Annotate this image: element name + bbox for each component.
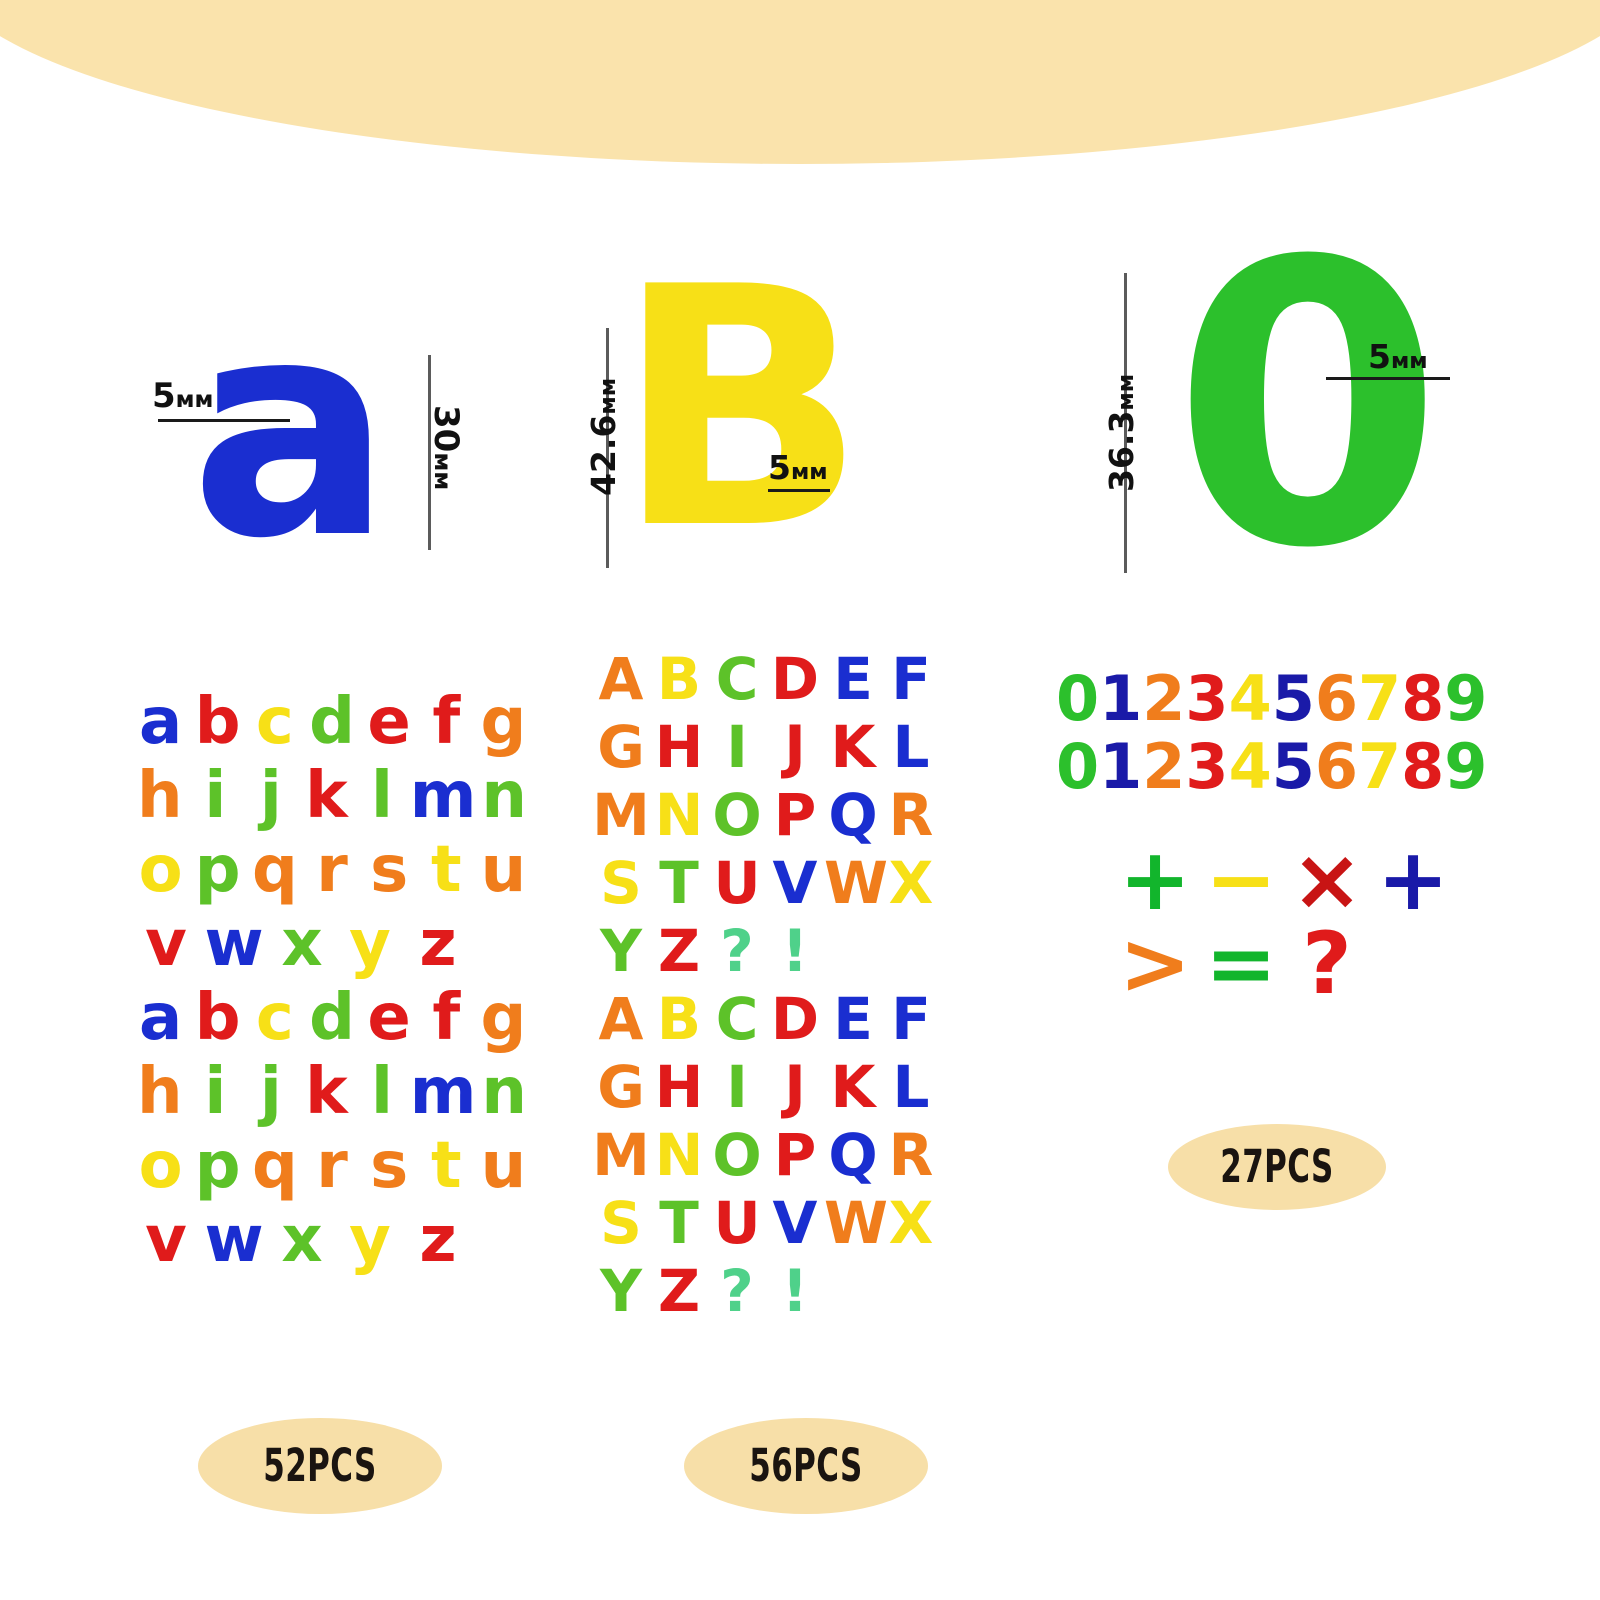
lowercase-row: opqrstu [132, 1134, 532, 1198]
uppercase-letter-tile: R [882, 1126, 940, 1184]
uppercase-letter-tile: F [882, 990, 940, 1048]
number-tile: 8 [1401, 736, 1444, 798]
lowercase-letter-tile: l [354, 1060, 410, 1124]
uppercase-letter-tile: B [650, 650, 708, 708]
badge-52pcs: 52PCS [198, 1418, 442, 1514]
uppercase-letter-tile: E [824, 650, 882, 708]
uppercase-letter-tile: D [766, 650, 824, 708]
number-tile: 5 [1272, 668, 1315, 730]
lowercase-letter-tile: n [476, 1060, 532, 1124]
lowercase-letter-tile: s [361, 838, 418, 902]
lowercase-letter-tile: u [475, 838, 532, 902]
uppercase-letter-tile: Z [650, 922, 708, 980]
lowercase-letter-tile: x [268, 1208, 336, 1272]
uppercase-row: MNOPQR [592, 1126, 952, 1184]
number-tile: 6 [1315, 736, 1358, 798]
lowercase-letter-tile: e [361, 690, 418, 754]
lowercase-letter-tile: p [189, 838, 246, 902]
spec-uppercase-b: B 42.6мм 5мм [600, 280, 920, 580]
uppercase-letter-tile: C [708, 990, 766, 1048]
uppercase-row: STUVWX [592, 854, 952, 912]
lowercase-letter-tile: a [132, 690, 189, 754]
uppercase-letter-tile: H [650, 718, 708, 776]
uppercase-letter-tile: P [766, 786, 824, 844]
lowercase-letter-tile: f [418, 986, 475, 1050]
lowercase-letter-tile: w [200, 912, 268, 976]
lowercase-row: vwxyz [132, 1208, 532, 1272]
symbols-row: +−×+ [1112, 840, 1492, 922]
lowercase-row: hijklmn [132, 1060, 532, 1124]
lowercase-letter-tile: r [303, 1134, 360, 1198]
badge-56pcs: 56PCS [684, 1418, 928, 1514]
lowercase-letter-tile: j [243, 1060, 299, 1124]
uppercase-row: YZ?! [592, 922, 952, 980]
uppercase-letter-tile: A [592, 650, 650, 708]
lowercase-letter-tile: x [268, 912, 336, 976]
uppercase-letters-sheet: ABCDEFGHIJKLMNOPQRSTUVWXYZ?!ABCDEFGHIJKL… [592, 650, 952, 1330]
lowercase-row: vwxyz [132, 912, 532, 976]
uppercase-letter-tile: ! [766, 1262, 824, 1320]
symbol-tile: + [1370, 840, 1456, 922]
uppercase-letter-tile: ? [708, 922, 766, 980]
uppercase-letter-tile: Z [650, 1262, 708, 1320]
number-tile: 0 [1056, 668, 1099, 730]
header-banner: Children's early education teaching aids [0, 0, 1600, 164]
uppercase-letter-tile: X [882, 1194, 940, 1252]
number-tile: 1 [1099, 736, 1142, 798]
symbol-tile: = [1198, 924, 1284, 1006]
number-tile: 6 [1315, 668, 1358, 730]
uppercase-letter-tile: I [708, 718, 766, 776]
number-tile: 1 [1099, 668, 1142, 730]
uppercase-letter-tile: K [824, 718, 882, 776]
uppercase-letter-tile: V [766, 854, 824, 912]
height-label-b: 42.6мм [584, 378, 623, 496]
lowercase-row: abcdefg [132, 690, 532, 754]
number-tile: 7 [1358, 668, 1401, 730]
lowercase-letter-tile: o [132, 838, 189, 902]
uppercase-letter-tile: Q [824, 786, 882, 844]
lowercase-letter-tile: f [418, 690, 475, 754]
lowercase-letter-tile: t [418, 1134, 475, 1198]
uppercase-row: GHIJKL [592, 718, 952, 776]
uppercase-letter-tile: T [650, 1194, 708, 1252]
uppercase-letter-tile: E [824, 990, 882, 1048]
lowercase-letter-tile: z [404, 912, 472, 976]
lowercase-letter-tile: t [418, 838, 475, 902]
lowercase-letter-tile: d [303, 690, 360, 754]
lowercase-letter-tile: e [361, 986, 418, 1050]
lowercase-letter-tile: v [132, 912, 200, 976]
lowercase-letter-tile: u [475, 1134, 532, 1198]
spec-lowercase-a: a 5мм 30мм [180, 300, 510, 580]
number-tile: 0 [1056, 736, 1099, 798]
uppercase-letter-tile: N [650, 786, 708, 844]
thickness-label-b: 5мм [768, 448, 828, 487]
uppercase-letter-tile: L [882, 1058, 940, 1116]
lowercase-letter-tile: h [132, 764, 188, 828]
uppercase-letter-tile: O [708, 1126, 766, 1184]
number-tile: 7 [1358, 736, 1401, 798]
uppercase-letter-tile: ? [708, 1262, 766, 1320]
lowercase-letter-tile: p [189, 1134, 246, 1198]
uppercase-letter-tile: J [766, 1058, 824, 1116]
symbols-row: >=? [1112, 924, 1492, 1006]
uppercase-letter-tile: K [824, 1058, 882, 1116]
thickness-leader-line-b [768, 489, 830, 492]
uppercase-letter-tile: A [592, 990, 650, 1048]
uppercase-row: STUVWX [592, 1194, 952, 1252]
uppercase-letter-tile: L [882, 718, 940, 776]
uppercase-letter-tile: T [650, 854, 708, 912]
number-tile: 4 [1229, 736, 1272, 798]
lowercase-letter-tile: c [246, 690, 303, 754]
lowercase-letter-tile: q [246, 1134, 303, 1198]
uppercase-row: ABCDEF [592, 650, 952, 708]
page-title: Children's early education teaching aids [95, 0, 1505, 12]
uppercase-letter-tile: F [882, 650, 940, 708]
uppercase-letter-tile: N [650, 1126, 708, 1184]
numbers-row: 0123456789 [1056, 736, 1476, 798]
uppercase-row: MNOPQR [592, 786, 952, 844]
lowercase-letter-tile: j [243, 764, 299, 828]
number-tile: 8 [1401, 668, 1444, 730]
uppercase-letter-tile: B [650, 990, 708, 1048]
uppercase-row: GHIJKL [592, 1058, 952, 1116]
number-tile: 2 [1142, 668, 1185, 730]
uppercase-letter-tile: J [766, 718, 824, 776]
uppercase-letter-tile: U [708, 854, 766, 912]
spec-glyph-b: B [615, 244, 867, 574]
uppercase-row: YZ?! [592, 1262, 952, 1320]
uppercase-letter-tile: C [708, 650, 766, 708]
uppercase-letter-tile: G [592, 1058, 650, 1116]
uppercase-letter-tile: M [592, 1126, 650, 1184]
uppercase-letter-tile: ! [766, 922, 824, 980]
number-tile: 5 [1272, 736, 1315, 798]
lowercase-letter-tile: d [303, 986, 360, 1050]
symbol-tile: × [1284, 840, 1370, 922]
number-tile: 3 [1185, 668, 1228, 730]
spec-glyph-zero: 0 [1172, 211, 1443, 601]
number-tile: 3 [1185, 736, 1228, 798]
uppercase-letter-tile: I [708, 1058, 766, 1116]
numbers-sheet: 01234567890123456789 [1056, 668, 1476, 804]
thickness-label-a: 5мм [152, 376, 213, 416]
number-tile: 2 [1142, 736, 1185, 798]
lowercase-letter-tile: k [299, 1060, 355, 1124]
lowercase-row: hijklmn [132, 764, 532, 828]
lowercase-letter-tile: v [132, 1208, 200, 1272]
uppercase-letter-tile: G [592, 718, 650, 776]
uppercase-letter-tile: D [766, 990, 824, 1048]
lowercase-letter-tile: l [354, 764, 410, 828]
badge-27pcs-label: 27PCS [1220, 1141, 1334, 1193]
lowercase-letter-tile: w [200, 1208, 268, 1272]
uppercase-letter-tile: O [708, 786, 766, 844]
number-tile: 9 [1444, 736, 1487, 798]
lowercase-row: opqrstu [132, 838, 532, 902]
uppercase-letter-tile: W [824, 854, 882, 912]
lowercase-letters-sheet: abcdefghijklmnopqrstuvwxyzabcdefghijklmn… [132, 690, 532, 1282]
lowercase-letter-tile: i [188, 764, 244, 828]
spec-glyph-a: a [190, 280, 392, 580]
lowercase-letter-tile: i [188, 1060, 244, 1124]
lowercase-letter-tile: b [189, 986, 246, 1050]
uppercase-letter-tile: R [882, 786, 940, 844]
uppercase-letter-tile: X [882, 854, 940, 912]
uppercase-letter-tile: S [592, 854, 650, 912]
lowercase-letter-tile: s [361, 1134, 418, 1198]
uppercase-row: ABCDEF [592, 990, 952, 1048]
lowercase-letter-tile: m [410, 1060, 477, 1124]
numbers-row: 0123456789 [1056, 668, 1476, 730]
lowercase-letter-tile: a [132, 986, 189, 1050]
symbol-tile: + [1112, 840, 1198, 922]
lowercase-letter-tile: m [410, 764, 477, 828]
number-tile: 4 [1229, 668, 1272, 730]
symbol-tile: > [1112, 924, 1198, 1006]
uppercase-letter-tile: W [824, 1194, 882, 1252]
lowercase-letter-tile: g [475, 986, 532, 1050]
spec-digit-zero: 0 36.3мм 5мм [1130, 255, 1470, 565]
symbol-tile: − [1198, 840, 1284, 922]
uppercase-letter-tile: S [592, 1194, 650, 1252]
thickness-leader-line-a [158, 419, 290, 422]
badge-52pcs-label: 52PCS [263, 1440, 377, 1492]
uppercase-letter-tile: Y [592, 1262, 650, 1320]
symbols-sheet: +−×+>=? [1112, 840, 1492, 1007]
lowercase-letter-tile: r [303, 838, 360, 902]
lowercase-row: abcdefg [132, 986, 532, 1050]
symbol-tile: ? [1284, 924, 1370, 1006]
uppercase-letter-tile: H [650, 1058, 708, 1116]
lowercase-letter-tile: y [336, 912, 404, 976]
thickness-leader-line-zero [1326, 377, 1450, 380]
lowercase-letter-tile: z [404, 1208, 472, 1272]
uppercase-letter-tile: M [592, 786, 650, 844]
lowercase-letter-tile: c [246, 986, 303, 1050]
lowercase-letter-tile: o [132, 1134, 189, 1198]
lowercase-letter-tile: h [132, 1060, 188, 1124]
number-tile: 9 [1444, 668, 1487, 730]
badge-27pcs: 27PCS [1168, 1124, 1386, 1210]
lowercase-letter-tile: k [299, 764, 355, 828]
lowercase-letter-tile: g [475, 690, 532, 754]
height-label-a: 30мм [426, 405, 466, 490]
lowercase-letter-tile: q [246, 838, 303, 902]
lowercase-letter-tile: n [476, 764, 532, 828]
thickness-label-zero: 5мм [1368, 337, 1428, 376]
uppercase-letter-tile: V [766, 1194, 824, 1252]
uppercase-letter-tile: Q [824, 1126, 882, 1184]
uppercase-letter-tile: P [766, 1126, 824, 1184]
uppercase-letter-tile: Y [592, 922, 650, 980]
lowercase-letter-tile: y [336, 1208, 404, 1272]
badge-56pcs-label: 56PCS [749, 1440, 863, 1492]
height-label-zero: 36.3мм [1102, 374, 1141, 492]
lowercase-letter-tile: b [189, 690, 246, 754]
uppercase-letter-tile: U [708, 1194, 766, 1252]
